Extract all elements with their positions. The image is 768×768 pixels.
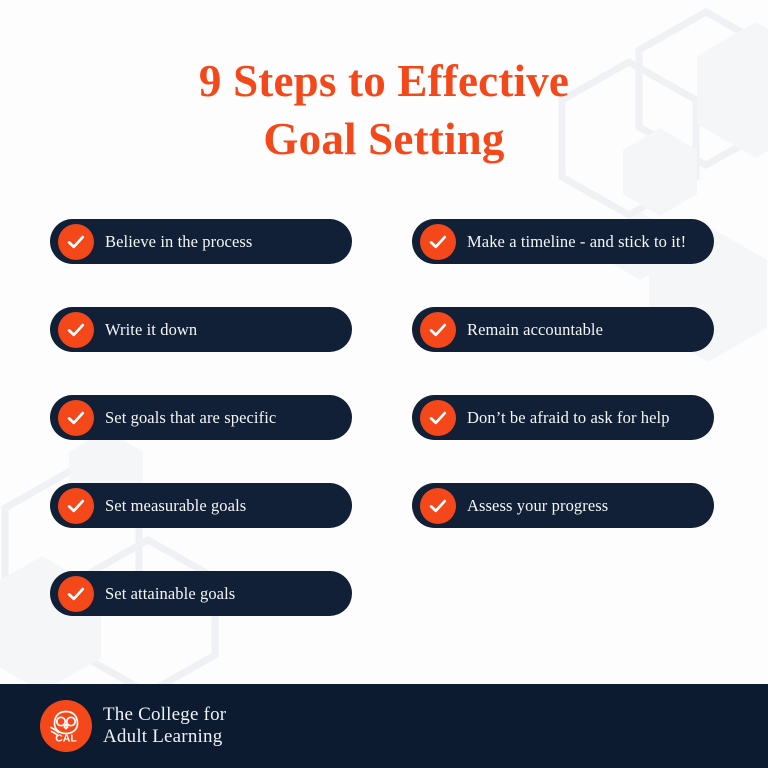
checklist-item[interactable]: Set measurable goals (50, 483, 352, 528)
footer-bar: CAL The College for Adult Learning (0, 684, 768, 768)
title-line-1: 9 Steps to Effective (0, 52, 768, 110)
checklist-item[interactable]: Make a timeline - and stick to it! (412, 219, 714, 264)
checklist-item[interactable]: Assess your progress (412, 483, 714, 528)
checklist-item-label: Believe in the process (105, 233, 252, 251)
check-circle-icon (58, 312, 94, 348)
page-title: 9 Steps to Effective Goal Setting (0, 52, 768, 168)
checklist-item[interactable]: Set attainable goals (50, 571, 352, 616)
checklist-item-label: Set measurable goals (105, 497, 246, 515)
infographic-poster: 9 Steps to Effective Goal Setting Believ… (0, 0, 768, 768)
checklist-item[interactable]: Believe in the process (50, 219, 352, 264)
check-circle-icon (58, 224, 94, 260)
brand-line-1: The College for (103, 704, 226, 726)
checklist-item-label: Don’t be afraid to ask for help (467, 409, 670, 427)
brand-line-2: Adult Learning (103, 726, 226, 748)
owl-logo-icon: CAL (40, 700, 92, 752)
checklist: Believe in the process Write it down Set… (0, 219, 768, 639)
check-circle-icon (58, 400, 94, 436)
brand-logo[interactable]: CAL The College for Adult Learning (40, 700, 226, 752)
checklist-item-label: Make a timeline - and stick to it! (467, 233, 686, 251)
check-circle-icon (58, 488, 94, 524)
checklist-item[interactable]: Set goals that are specific (50, 395, 352, 440)
checklist-column-right: Make a timeline - and stick to it! Remai… (412, 219, 714, 528)
check-circle-icon (420, 312, 456, 348)
checklist-item-label: Set attainable goals (105, 585, 235, 603)
checklist-item-label: Assess your progress (467, 497, 608, 515)
checklist-item[interactable]: Remain accountable (412, 307, 714, 352)
checklist-item-label: Set goals that are specific (105, 409, 276, 427)
checklist-item[interactable]: Write it down (50, 307, 352, 352)
checklist-item[interactable]: Don’t be afraid to ask for help (412, 395, 714, 440)
checklist-column-left: Believe in the process Write it down Set… (50, 219, 352, 616)
checklist-item-label: Remain accountable (467, 321, 603, 339)
check-circle-icon (420, 488, 456, 524)
logo-initials: CAL (55, 733, 77, 745)
check-circle-icon (420, 400, 456, 436)
checklist-item-label: Write it down (105, 321, 197, 339)
brand-name: The College for Adult Learning (103, 704, 226, 748)
check-circle-icon (420, 224, 456, 260)
title-line-2: Goal Setting (0, 110, 768, 168)
check-circle-icon (58, 576, 94, 612)
